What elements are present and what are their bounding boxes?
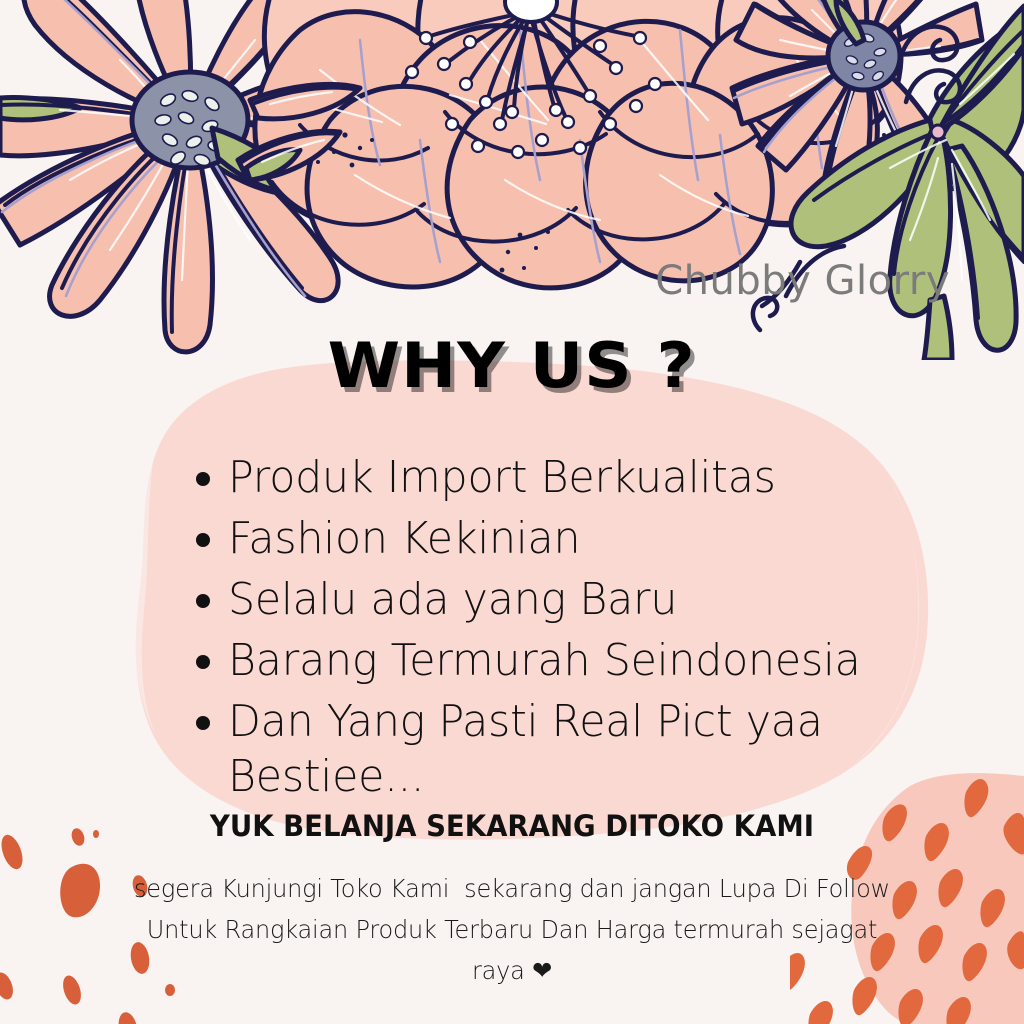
benefits-list: Produk Import Berkualitas Fashion Kekini… — [196, 450, 976, 810]
cta-text: YUK BELANJA SEKARANG DITOKO KAMI — [210, 810, 814, 842]
list-item: Produk Import Berkualitas — [196, 450, 976, 505]
benefit-label: Produk Import Berkualitas — [228, 450, 776, 505]
benefit-label: Selalu ada yang Baru — [228, 572, 677, 627]
bullet-dot-icon — [196, 716, 210, 730]
body-line: segera Kunjungi Toko Kami sekarang dan j… — [20, 868, 1003, 909]
benefit-label: Fashion Kekinian — [228, 511, 580, 566]
poster-canvas: .pt{fill:#F6BFAE;stroke:#1E1C4E;stroke-w… — [0, 0, 1024, 1024]
list-item: Selalu ada yang Baru — [196, 572, 976, 627]
list-item: Barang Termurah Seindonesia — [196, 633, 976, 688]
headline-text: WHY US ? — [328, 335, 696, 397]
brand-name: Chubby Glorry — [0, 258, 950, 304]
benefit-label: Barang Termurah Seindonesia — [228, 633, 861, 688]
bullet-dot-icon — [196, 594, 210, 608]
body-line-heart: raya ❤ — [20, 950, 1003, 991]
page-title: WHY US ? — [0, 335, 1024, 397]
list-item: Fashion Kekinian — [196, 511, 976, 566]
list-item: Dan Yang Pasti Real Pict yaa Bestiee... — [196, 694, 976, 804]
bullet-dot-icon — [196, 655, 210, 669]
body-copy: segera Kunjungi Toko Kami sekarang dan j… — [0, 868, 1024, 991]
floral-border-top: .pt{fill:#F6BFAE;stroke:#1E1C4E;stroke-w… — [0, 0, 1024, 365]
bullet-dot-icon — [196, 533, 210, 547]
benefit-label: Dan Yang Pasti Real Pict yaa Bestiee... — [228, 694, 954, 804]
body-line: Untuk Rangkaian Produk Terbaru Dan Harga… — [20, 909, 1003, 950]
bullet-dot-icon — [196, 472, 210, 486]
cta-heading: YUK BELANJA SEKARANG DITOKO KAMI — [0, 810, 1024, 842]
